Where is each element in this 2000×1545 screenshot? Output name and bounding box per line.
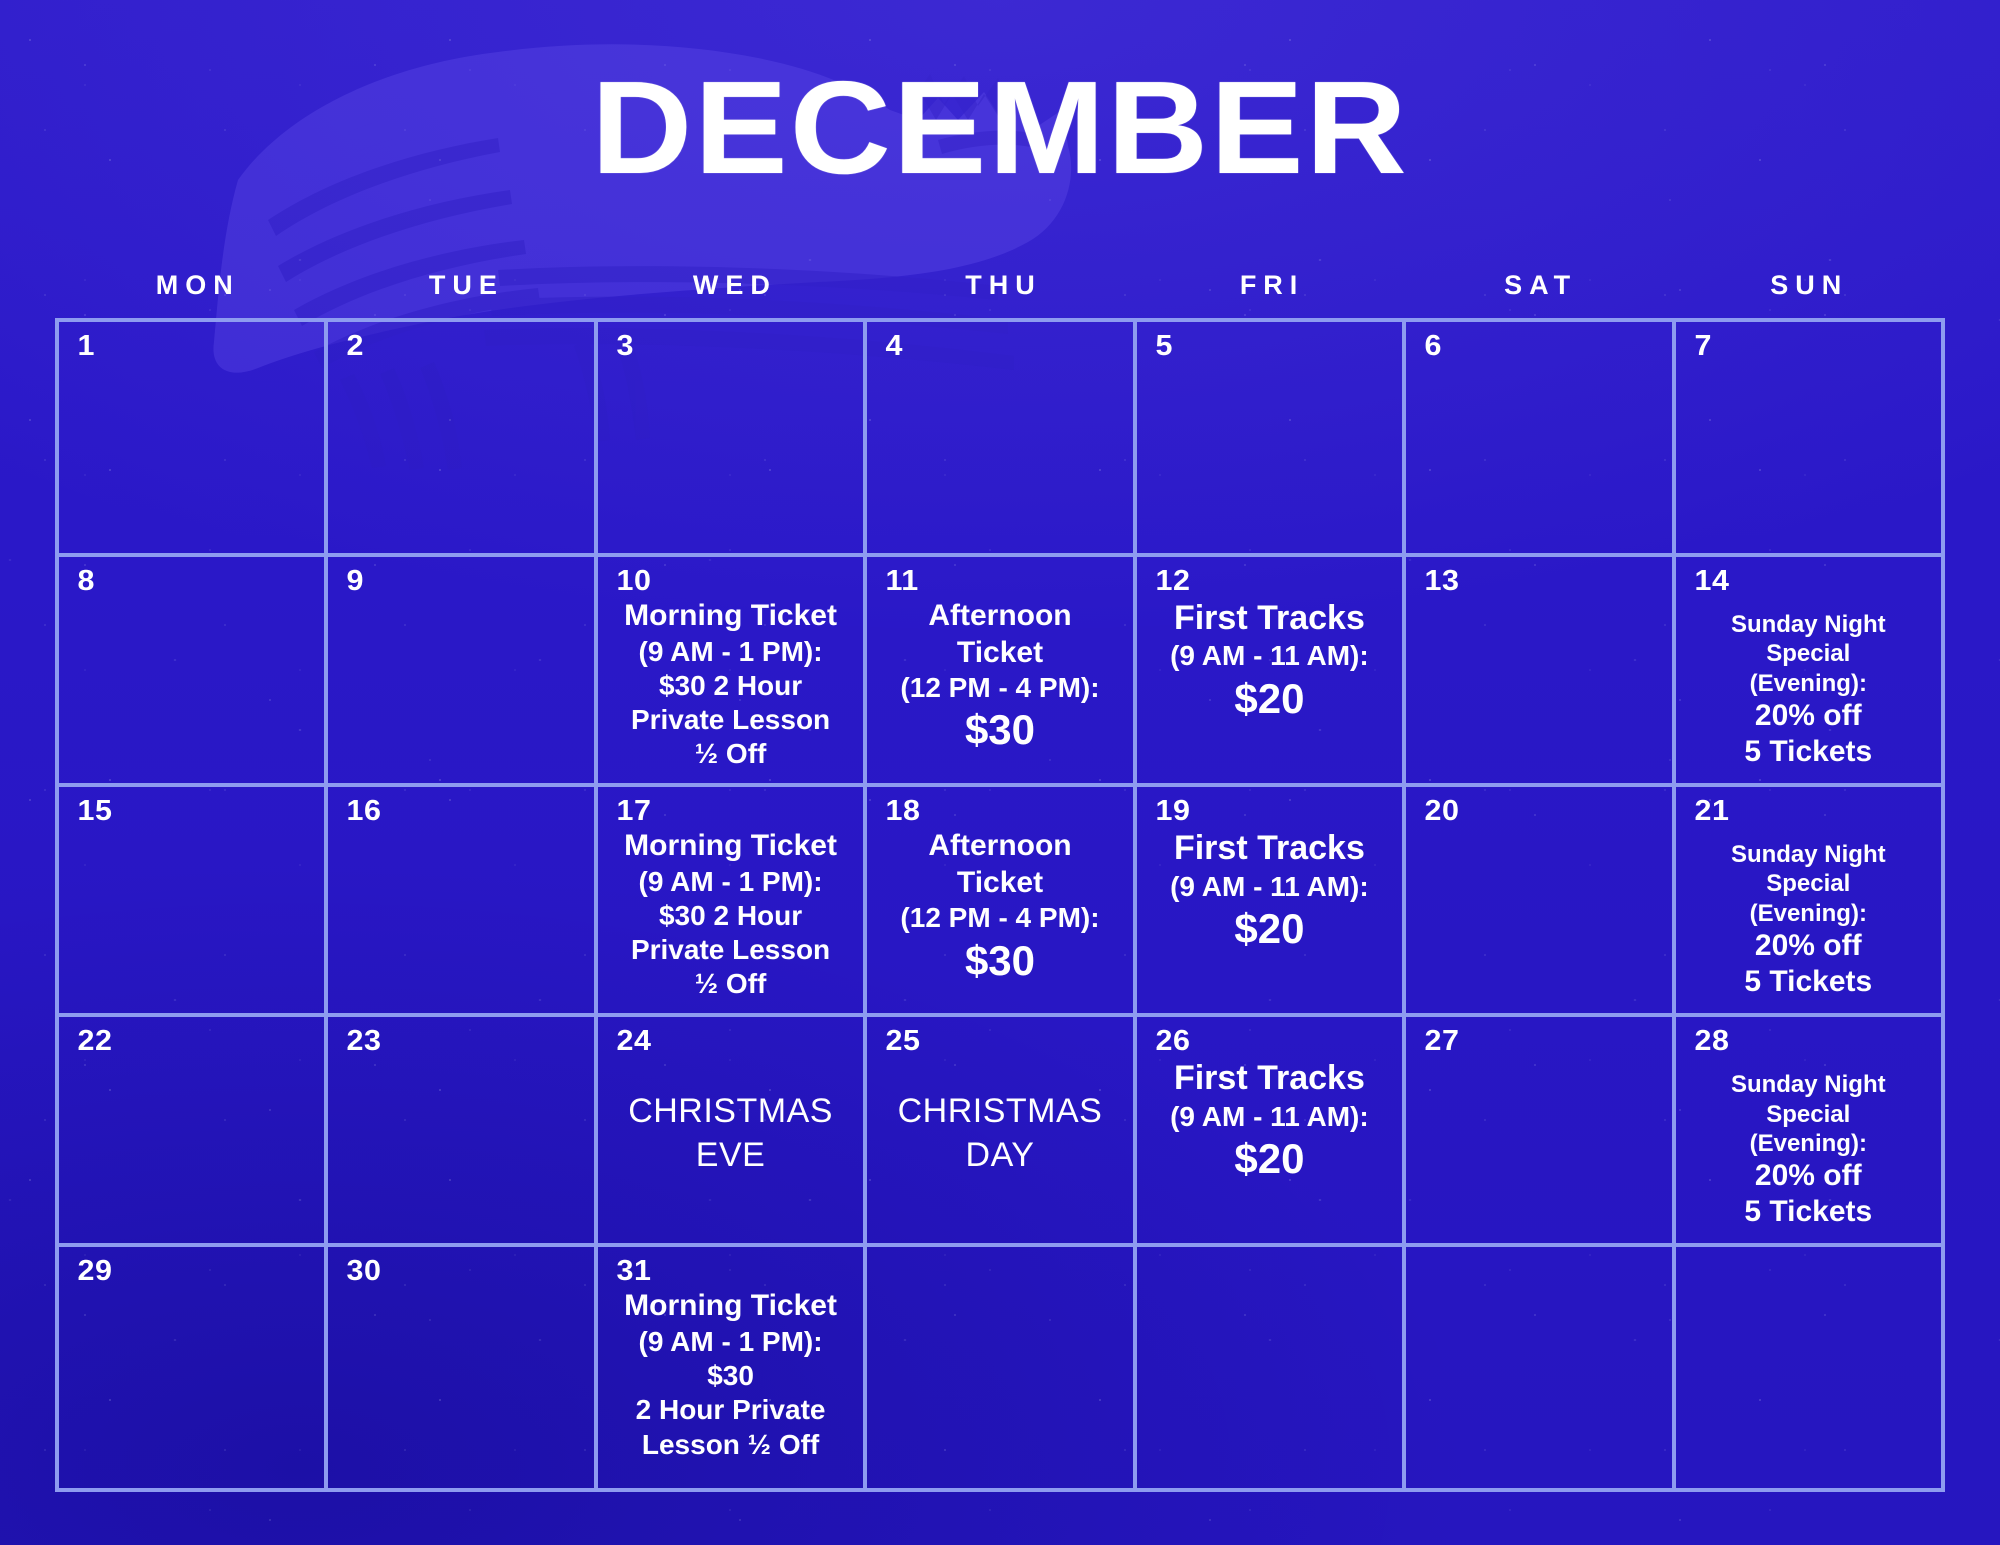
day-number: 10 — [606, 567, 868, 596]
day-event-holiday: CHRISTMASEVE — [606, 1056, 855, 1177]
event-line: $30 — [881, 705, 1118, 755]
event-line: Afternoon Ticket — [881, 828, 1118, 901]
weekday-sun: SUN — [1671, 270, 1940, 301]
day-number: 2 — [336, 332, 598, 361]
day-event-morning: Morning Ticket(9 AM - 1 PM):$30 2 HourPr… — [606, 826, 855, 1001]
calendar-day-cell[interactable]: 18Afternoon Ticket(12 PM - 4 PM):$30 — [867, 787, 1136, 1017]
calendar-week-row: 1234567 — [59, 322, 1945, 557]
event-line: (Evening): — [1690, 899, 1927, 928]
calendar-day-cell[interactable]: 13 — [1406, 557, 1675, 787]
day-number: 15 — [67, 797, 329, 826]
event-line: (9 AM - 1 PM): — [612, 865, 849, 899]
calendar-day-cell[interactable]: 16 — [328, 787, 597, 1017]
day-event-morning: Morning Ticket(9 AM - 1 PM): $302 Hour P… — [606, 1286, 855, 1461]
day-event-holiday: CHRISTMASDAY — [875, 1056, 1124, 1177]
calendar-day-cell[interactable]: 15 — [59, 787, 328, 1017]
event-line: Sunday Night Special — [1690, 610, 1927, 669]
day-event-morning: Morning Ticket(9 AM - 1 PM):$30 2 HourPr… — [606, 596, 855, 771]
calendar-day-cell[interactable]: 28Sunday Night Special(Evening):20% off5… — [1676, 1017, 1945, 1247]
event-line: (9 AM - 1 PM): $30 — [612, 1325, 849, 1393]
day-number: 5 — [1145, 332, 1407, 361]
calendar-week-row: 151617Morning Ticket(9 AM - 1 PM):$30 2 … — [59, 787, 1945, 1017]
calendar-day-cell[interactable]: 25CHRISTMASDAY — [867, 1017, 1136, 1247]
calendar-week-row: 8910Morning Ticket(9 AM - 1 PM):$30 2 Ho… — [59, 557, 1945, 787]
event-line: 5 Tickets — [1690, 964, 1927, 1000]
event-line: $30 — [881, 936, 1118, 986]
day-event-sunday: Sunday Night Special(Evening):20% off5 T… — [1684, 596, 1933, 770]
day-event-sunday: Sunday Night Special(Evening):20% off5 T… — [1684, 826, 1933, 1000]
event-line: CHRISTMAS — [881, 1058, 1118, 1134]
calendar-day-cell[interactable]: 12First Tracks(9 AM - 11 AM):$20 — [1137, 557, 1406, 787]
event-line: Private Lesson — [612, 933, 849, 967]
event-line: 20% off — [1690, 928, 1927, 964]
calendar-day-cell[interactable]: 27 — [1406, 1017, 1675, 1247]
calendar-day-cell[interactable]: 17Morning Ticket(9 AM - 1 PM):$30 2 Hour… — [598, 787, 867, 1017]
day-number: 31 — [606, 1257, 868, 1286]
day-number: 23 — [336, 1027, 598, 1056]
event-line: (12 PM - 4 PM): — [881, 901, 1118, 935]
calendar-day-cell[interactable]: 14Sunday Night Special(Evening):20% off5… — [1676, 557, 1945, 787]
weekday-tue: TUE — [329, 270, 598, 301]
event-line: $30 2 Hour — [612, 669, 849, 703]
calendar-day-cell[interactable]: 31Morning Ticket(9 AM - 1 PM): $302 Hour… — [598, 1247, 867, 1492]
calendar-day-cell[interactable]: 5 — [1137, 322, 1406, 557]
day-event-sunday: Sunday Night Special(Evening):20% off5 T… — [1684, 1056, 1933, 1230]
event-line: Morning Ticket — [612, 598, 849, 635]
day-event-afternoon: Afternoon Ticket(12 PM - 4 PM):$30 — [875, 826, 1124, 985]
calendar-empty-cell — [1406, 1247, 1675, 1492]
calendar-day-cell[interactable]: 2 — [328, 322, 597, 557]
day-number: 6 — [1414, 332, 1676, 361]
day-number: 22 — [67, 1027, 329, 1056]
calendar-day-cell[interactable]: 29 — [59, 1247, 328, 1492]
weekday-wed: WED — [597, 270, 866, 301]
event-line: CHRISTMAS — [612, 1058, 849, 1134]
calendar-day-cell[interactable]: 4 — [867, 322, 1136, 557]
day-number: 12 — [1145, 567, 1407, 596]
event-line: 5 Tickets — [1690, 734, 1927, 770]
event-line: EVE — [612, 1134, 849, 1178]
day-number: 8 — [67, 567, 329, 596]
event-line: DAY — [881, 1134, 1118, 1178]
event-line: (Evening): — [1690, 1129, 1927, 1158]
day-number: 11 — [875, 567, 1137, 596]
event-line: 5 Tickets — [1690, 1194, 1927, 1230]
event-line: (Evening): — [1690, 669, 1927, 698]
weekday-sat: SAT — [1403, 270, 1672, 301]
event-line: (9 AM - 11 AM): — [1151, 639, 1388, 673]
page-title: DECEMBER — [0, 0, 2000, 194]
day-event-afternoon: Afternoon Ticket(12 PM - 4 PM):$30 — [875, 596, 1124, 755]
event-line: ½ Off — [612, 967, 849, 1001]
event-line: $20 — [1151, 904, 1388, 954]
calendar-day-cell[interactable]: 6 — [1406, 322, 1675, 557]
calendar-day-cell[interactable]: 7 — [1676, 322, 1945, 557]
event-line: 20% off — [1690, 1158, 1927, 1194]
day-number: 14 — [1684, 567, 1946, 596]
calendar-empty-cell — [1676, 1247, 1945, 1492]
day-number: 16 — [336, 797, 598, 826]
day-number: 26 — [1145, 1027, 1407, 1056]
calendar-day-cell[interactable]: 26First Tracks(9 AM - 11 AM):$20 — [1137, 1017, 1406, 1247]
day-number: 20 — [1414, 797, 1676, 826]
day-number: 1 — [67, 332, 329, 361]
event-line: ½ Off — [612, 737, 849, 771]
event-line: (9 AM - 11 AM): — [1151, 870, 1388, 904]
weekday-fri: FRI — [1134, 270, 1403, 301]
day-number: 27 — [1414, 1027, 1676, 1056]
event-line: $30 2 Hour — [612, 899, 849, 933]
event-line: Morning Ticket — [612, 1288, 849, 1325]
event-line: First Tracks — [1151, 1058, 1388, 1099]
calendar-day-cell[interactable]: 1 — [59, 322, 328, 557]
day-event-firsttracks: First Tracks(9 AM - 11 AM):$20 — [1145, 826, 1394, 953]
calendar-day-cell[interactable]: 20 — [1406, 787, 1675, 1017]
weekday-thu: THU — [866, 270, 1135, 301]
calendar-week-row: 293031Morning Ticket(9 AM - 1 PM): $302 … — [59, 1247, 1945, 1492]
event-line: Lesson ½ Off — [612, 1428, 849, 1462]
weekday-mon: MON — [60, 270, 329, 301]
calendar-grid: 12345678910Morning Ticket(9 AM - 1 PM):$… — [55, 318, 1945, 1492]
calendar-day-cell[interactable]: 10Morning Ticket(9 AM - 1 PM):$30 2 Hour… — [598, 557, 867, 787]
day-event-firsttracks: First Tracks(9 AM - 11 AM):$20 — [1145, 1056, 1394, 1183]
day-number: 25 — [875, 1027, 1137, 1056]
event-line: (12 PM - 4 PM): — [881, 671, 1118, 705]
event-line: Sunday Night Special — [1690, 840, 1927, 899]
day-number: 9 — [336, 567, 598, 596]
event-line: 20% off — [1690, 698, 1927, 734]
calendar-day-cell[interactable]: 9 — [328, 557, 597, 787]
day-number: 28 — [1684, 1027, 1946, 1056]
event-line: (9 AM - 11 AM): — [1151, 1100, 1388, 1134]
event-line: 2 Hour Private — [612, 1393, 849, 1427]
event-line: Afternoon Ticket — [881, 598, 1118, 671]
day-number: 29 — [67, 1257, 329, 1286]
event-line: First Tracks — [1151, 828, 1388, 869]
weekday-header-row: MON TUE WED THU FRI SAT SUN — [55, 270, 1945, 301]
day-number: 19 — [1145, 797, 1407, 826]
calendar-day-cell[interactable]: 8 — [59, 557, 328, 787]
day-number: 30 — [336, 1257, 598, 1286]
calendar-day-cell[interactable]: 11Afternoon Ticket(12 PM - 4 PM):$30 — [867, 557, 1136, 787]
calendar-day-cell[interactable]: 3 — [598, 322, 867, 557]
event-line: Sunday Night Special — [1690, 1070, 1927, 1129]
day-number: 24 — [606, 1027, 868, 1056]
calendar-empty-cell — [1137, 1247, 1406, 1492]
day-number: 7 — [1684, 332, 1946, 361]
calendar-week-row: 222324CHRISTMASEVE25CHRISTMASDAY26First … — [59, 1017, 1945, 1247]
event-line: (9 AM - 1 PM): — [612, 635, 849, 669]
day-number: 13 — [1414, 567, 1676, 596]
event-line: $20 — [1151, 674, 1388, 724]
calendar-day-cell[interactable]: 21Sunday Night Special(Evening):20% off5… — [1676, 787, 1945, 1017]
calendar-day-cell[interactable]: 19First Tracks(9 AM - 11 AM):$20 — [1137, 787, 1406, 1017]
calendar-day-cell[interactable]: 30 — [328, 1247, 597, 1492]
event-line: $20 — [1151, 1134, 1388, 1184]
event-line: Private Lesson — [612, 703, 849, 737]
event-line: First Tracks — [1151, 598, 1388, 639]
event-line: Morning Ticket — [612, 828, 849, 865]
calendar-day-cell[interactable]: 23 — [328, 1017, 597, 1247]
day-number: 18 — [875, 797, 1137, 826]
day-number: 4 — [875, 332, 1137, 361]
day-number: 21 — [1684, 797, 1946, 826]
calendar-empty-cell — [867, 1247, 1136, 1492]
day-number: 17 — [606, 797, 868, 826]
calendar-day-cell[interactable]: 22 — [59, 1017, 328, 1247]
calendar-day-cell[interactable]: 24CHRISTMASEVE — [598, 1017, 867, 1247]
calendar-page: DECEMBER MON TUE WED THU FRI SAT SUN 123… — [0, 0, 2000, 1545]
day-event-firsttracks: First Tracks(9 AM - 11 AM):$20 — [1145, 596, 1394, 723]
day-number: 3 — [606, 332, 868, 361]
